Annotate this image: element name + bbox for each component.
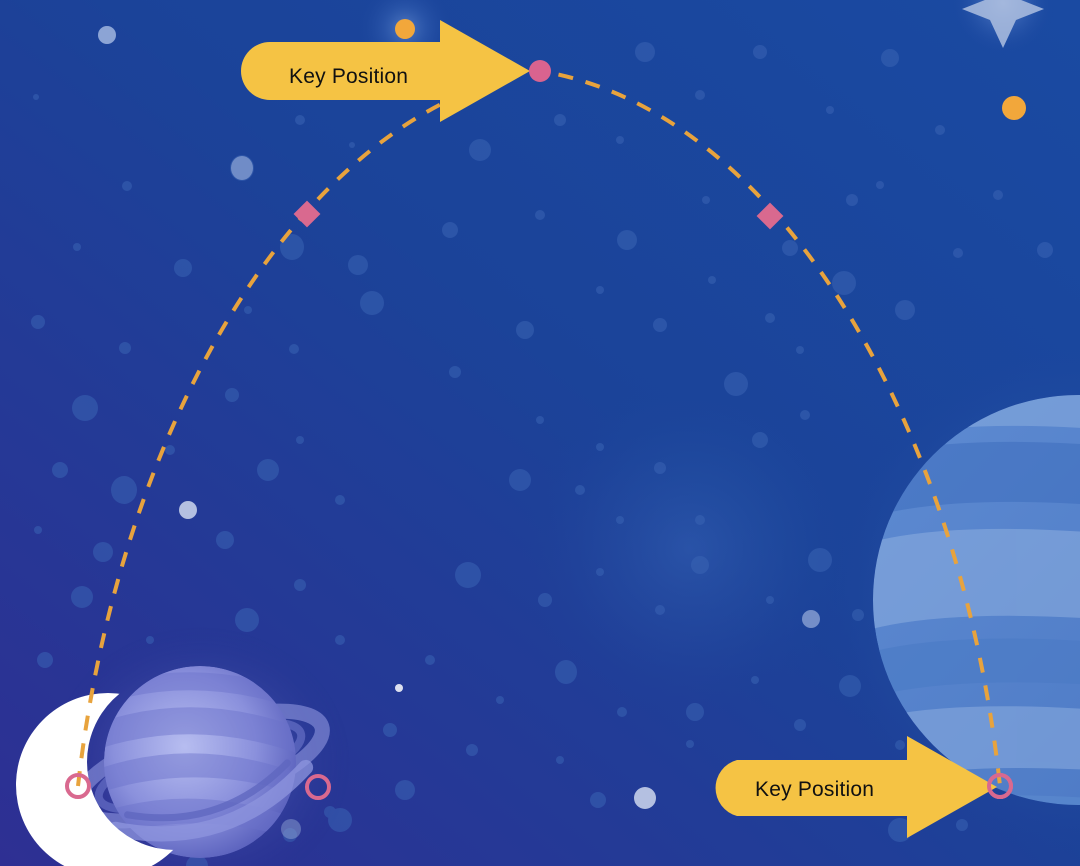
scene-canvas — [0, 0, 1080, 866]
trajectory-illustration: Key Position Key Position — [0, 0, 1080, 866]
apex-position-marker — [529, 60, 551, 82]
crescent-moon — [0, 670, 260, 866]
glowing-orange-dot — [395, 19, 415, 39]
orange-dot — [1002, 96, 1026, 120]
